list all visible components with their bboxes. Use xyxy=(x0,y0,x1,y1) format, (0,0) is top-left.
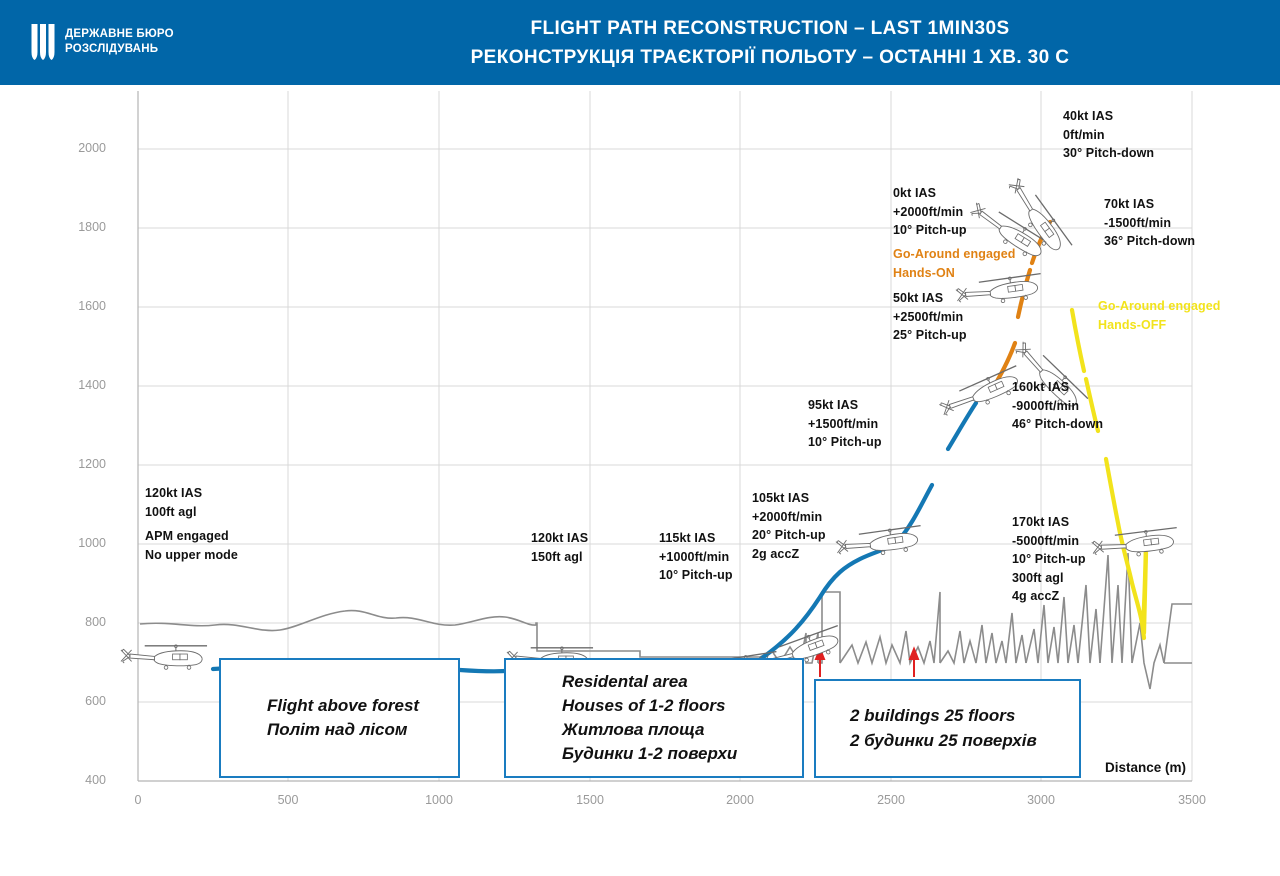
heli-icon-95kt xyxy=(835,525,924,561)
annot-160kt: 160kt IAS -9000ft/min 46° Pitch-down xyxy=(1012,378,1103,434)
annot-40kt: 40kt IAS 0ft/min 30° Pitch-down xyxy=(1063,107,1154,163)
x-tick-3500: 3500 xyxy=(1162,793,1222,807)
y-tick-400: 400 xyxy=(60,773,106,787)
dbr-logo-icon xyxy=(30,22,56,62)
annot-0kt: 0kt IAS +2000ft/min 10° Pitch-up xyxy=(893,184,967,240)
page-header: ДЕРЖАВНЕ БЮРО РОЗСЛІДУВАНЬ FLIGHT PATH R… xyxy=(0,0,1280,85)
callout-forest-text: Flight above forest Політ над лісом xyxy=(221,694,419,742)
x-tick-0: 0 xyxy=(108,793,168,807)
y-tick-800: 800 xyxy=(60,615,106,629)
title-ukrainian: РЕКОНСТРУКЦІЯ ТРАЄКТОРІЇ ПОЛЬОТУ – ОСТАН… xyxy=(340,43,1200,72)
heli-icon-start xyxy=(121,645,207,669)
annot-apm: APM engaged No upper mode xyxy=(145,527,238,564)
annot-70kt: 70kt IAS -1500ft/min 36° Pitch-down xyxy=(1104,195,1195,251)
annot-go-around-2: Go-Around engaged Hands-OFF xyxy=(1098,297,1221,334)
title-block: FLIGHT PATH RECONSTRUCTION – LAST 1MIN30… xyxy=(340,14,1200,73)
x-tick-1500: 1500 xyxy=(560,793,620,807)
y-tick-1600: 1600 xyxy=(60,299,106,313)
callout-forest: Flight above forest Політ над лісом xyxy=(219,658,460,778)
chart-area: 2000 1800 1600 1400 1200 1000 800 600 40… xyxy=(0,85,1280,876)
title-english: FLIGHT PATH RECONSTRUCTION – LAST 1MIN30… xyxy=(340,14,1200,43)
y-tick-600: 600 xyxy=(60,694,106,708)
y-tick-1400: 1400 xyxy=(60,378,106,392)
y-tick-2000: 2000 xyxy=(60,141,106,155)
x-axis-title: Distance (m) xyxy=(1105,760,1186,775)
logo: ДЕРЖАВНЕ БЮРО РОЗСЛІДУВАНЬ xyxy=(30,22,174,62)
callout-residential: Residental area Houses of 1-2 floors Жит… xyxy=(504,658,804,778)
callout-residential-text: Residental area Houses of 1-2 floors Жит… xyxy=(506,670,737,767)
y-tick-1000: 1000 xyxy=(60,536,106,550)
y-tick-1800: 1800 xyxy=(60,220,106,234)
annot-105kt: 105kt IAS +2000ft/min 20° Pitch-up 2g ac… xyxy=(752,489,826,563)
annot-start: 120kt IAS 100ft agl xyxy=(145,484,202,521)
callout-buildings: 2 buildings 25 floors 2 будинки 25 повер… xyxy=(814,679,1081,778)
x-tick-1000: 1000 xyxy=(409,793,469,807)
annot-95kt: 95kt IAS +1500ft/min 10° Pitch-up xyxy=(808,396,882,452)
annot-go-around-1: Go-Around engaged Hands-ON xyxy=(893,245,1016,282)
annot-170kt: 170kt IAS -5000ft/min 10° Pitch-up 300ft… xyxy=(1012,513,1086,606)
x-tick-2000: 2000 xyxy=(710,793,770,807)
x-tick-3000: 3000 xyxy=(1011,793,1071,807)
building-arrows xyxy=(816,649,918,677)
annot-120kt-150ft: 120kt IAS 150ft agl xyxy=(531,529,588,566)
annot-50kt: 50kt IAS +2500ft/min 25° Pitch-up xyxy=(893,289,967,345)
series-ga2-terminal xyxy=(1144,553,1146,633)
logo-text: ДЕРЖАВНЕ БЮРО РОЗСЛІДУВАНЬ xyxy=(65,27,174,56)
y-tick-1200: 1200 xyxy=(60,457,106,471)
x-tick-2500: 2500 xyxy=(861,793,921,807)
callout-buildings-text: 2 buildings 25 floors 2 будинки 25 повер… xyxy=(816,704,1037,752)
x-tick-500: 500 xyxy=(258,793,318,807)
annot-115kt: 115kt IAS +1000ft/min 10° Pitch-up xyxy=(659,529,733,585)
